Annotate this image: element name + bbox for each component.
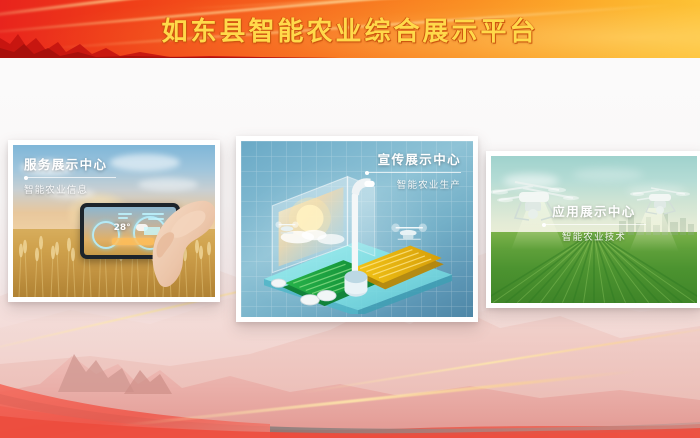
card-application-center-caption: 应用展示中心 智能农业技术 [491, 204, 697, 243]
page-title: 如东县智能农业综合展示平台 [0, 0, 700, 58]
card-promotion-center-title: 宣传展示中心 [365, 152, 461, 167]
card-application-center[interactable]: 应用展示中心 智能农业技术 [486, 151, 700, 308]
drone-right [391, 224, 427, 240]
caption-divider [24, 177, 116, 178]
card-service-center-subtitle: 智能农业信息 [24, 182, 116, 196]
hud-bar [118, 213, 132, 215]
temperature-readout: 28° [114, 223, 131, 233]
card-service-center-title: 服务展示中心 [24, 157, 116, 172]
card-application-center-image: 应用展示中心 智能农业技术 [491, 156, 697, 303]
caption-divider [542, 224, 646, 225]
card-service-center[interactable]: 28° 服务展示中心 [8, 140, 220, 302]
card-promotion-center-subtitle: 智能农业生产 [365, 177, 461, 191]
card-service-center-caption: 服务展示中心 智能农业信息 [24, 157, 116, 196]
hud-bar [118, 217, 128, 219]
header-banner: 如东县智能农业综合展示平台 [0, 0, 700, 58]
card-application-center-title: 应用展示中心 [491, 204, 697, 219]
card-promotion-center-image: 宣传展示中心 智能农业生产 [241, 141, 473, 317]
card-promotion-center-caption: 宣传展示中心 智能农业生产 [365, 152, 461, 191]
divider-dot [542, 223, 546, 227]
presentation-stage: 如东县智能农业综合展示平台 [0, 0, 700, 438]
cloud-shape [110, 154, 180, 171]
divider-dot [365, 171, 369, 175]
card-service-center-image: 28° 服务展示中心 [13, 145, 215, 297]
caption-divider [365, 172, 461, 173]
divider-dot [24, 176, 28, 180]
hand-illustration [141, 191, 215, 289]
card-promotion-center[interactable]: 宣传展示中心 智能农业生产 [236, 136, 478, 322]
card-application-center-subtitle: 智能农业技术 [491, 229, 697, 243]
